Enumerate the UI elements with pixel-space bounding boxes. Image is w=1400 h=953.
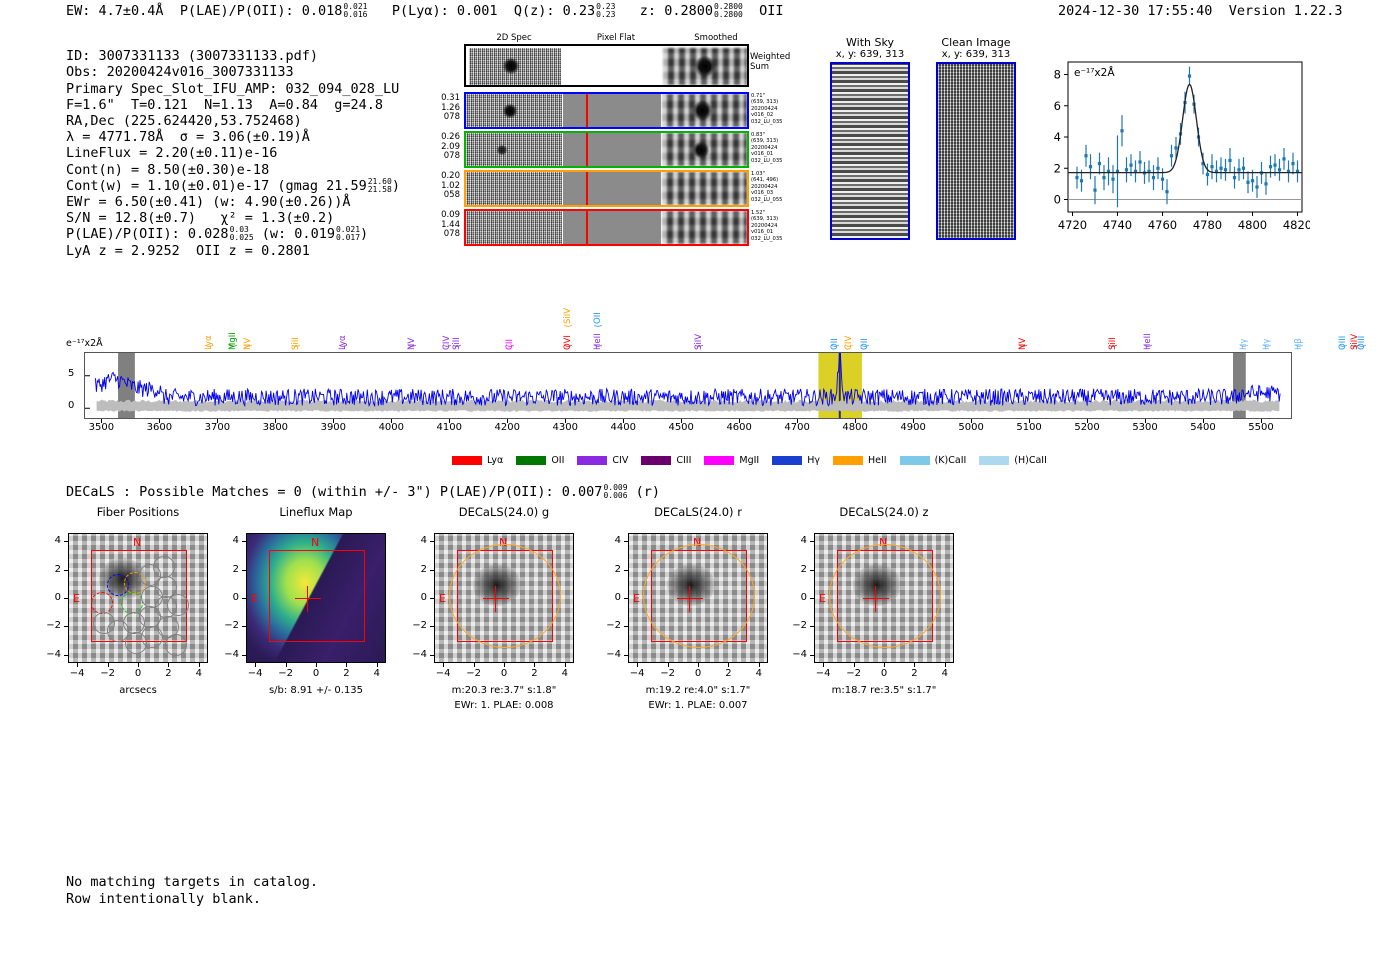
header-timestamp-version: 2024-12-30 17:55:40 Version 1.22.3 [1058, 3, 1343, 19]
legend-swatch [900, 456, 930, 465]
x-tickmark [101, 419, 102, 423]
decals-summary-text: DECaLS : Possible Matches = 0 (within +/… [66, 484, 602, 500]
y-tick-0: 0 [68, 400, 74, 411]
x-tickmark [913, 419, 914, 423]
header-summary-line: EW: 4.7±0.4Å P(LAE)/P(OII): 0.0180.0210.… [66, 3, 784, 19]
cutout-x-tickmark [138, 663, 139, 667]
emission-line-tick: ( [1339, 344, 1349, 348]
x-tick-5200: 5200 [1071, 422, 1103, 433]
svg-text:6: 6 [1054, 99, 1061, 113]
footer-note: No matching targets in catalog. Row inte… [66, 874, 318, 908]
cutout-x-tickmark [504, 663, 505, 667]
cutout-xlabel-1: s/b: 8.91 +/- 0.135 [216, 685, 416, 696]
legend-swatch [452, 456, 482, 465]
cutout-x-tickmark [474, 663, 475, 667]
cutout-image-3[interactable]: NE [628, 533, 768, 663]
fiber-2-flat-marker [586, 133, 588, 166]
cutout-x-ticklabel: 4 [933, 668, 957, 679]
cutout-x-ticklabel: 2 [716, 668, 740, 679]
emission-line-tick: ( [408, 344, 418, 348]
cutout-y-ticklabel: 0 [43, 592, 61, 603]
cutout-y-tickmark [624, 598, 628, 599]
legend-item-CIV: CIV [577, 455, 628, 466]
cutout-x-tickmark [945, 663, 946, 667]
emission-line-label-SiIV: SiIV [563, 284, 573, 324]
legend-item-CIII: CIII [641, 455, 691, 466]
cutout-y-tickmark [624, 626, 628, 627]
compass-east-label: E [439, 592, 446, 605]
cutout-y-tickmark [64, 626, 68, 627]
legend-swatch [641, 456, 671, 465]
emission-line-tick: ( [594, 324, 604, 328]
legend-label: CIII [676, 455, 691, 466]
cutout-y-tickmark [430, 570, 434, 571]
cutout-x-tickmark [914, 663, 915, 667]
cutout-caption1-2: m:20.3 re:3.7" s:1.8" [404, 685, 604, 696]
x-tickmark [797, 419, 798, 423]
cutout-y-ticklabel: −4 [43, 649, 61, 660]
info-line-2: Primary Spec_Slot_IFU_AMP: 032_094_028_L… [66, 81, 399, 97]
cutout-y-tickmark [624, 541, 628, 542]
cutout-x-tickmark [565, 663, 566, 667]
cutout-caption1-4: m:18.7 re:3.5" s:1.7" [784, 685, 984, 696]
emission-line-tick: ( [1144, 344, 1154, 348]
emission-line-tick: ( [564, 344, 574, 348]
emission-line-tick: ( [845, 344, 855, 348]
header-plya-value: 0.001 [457, 3, 498, 19]
legend-label: MgII [739, 455, 759, 466]
cutout-y-tickmark [810, 541, 814, 542]
x-tickmark [507, 419, 508, 423]
x-tick-3800: 3800 [259, 422, 291, 433]
svg-text:4780: 4780 [1193, 218, 1222, 232]
emission-line-tick: ( [229, 344, 239, 348]
info-line-4: RA,Dec (225.624420,53.752468) [66, 113, 302, 129]
cutout-y-tickmark [430, 655, 434, 656]
cutout-x-tickmark [108, 663, 109, 667]
cutout-y-tickmark [242, 655, 246, 656]
legend-swatch [979, 456, 1009, 465]
header-plya-label: P(Lyα): [392, 3, 449, 19]
cutout-x-ticklabel: 4 [365, 668, 389, 679]
x-tickmark [681, 419, 682, 423]
legend-item-Ly: Lyα [452, 455, 503, 466]
header-plae-value: 0.018 [302, 3, 343, 19]
cutout-y-tickmark [810, 655, 814, 656]
fiber-row-3 [464, 170, 749, 207]
fiber-circle-15 [167, 594, 189, 616]
spec2d-col-title-smoothed: Smoothed [668, 33, 764, 43]
cutout-title-2: DECaLS(24.0) g [412, 505, 596, 519]
x-tick-3700: 3700 [201, 422, 233, 433]
emission-line-tick: ( [292, 344, 302, 348]
svg-text:4760: 4760 [1148, 218, 1177, 232]
line-fit-svg: 47204740476047804800482002468 e⁻¹⁷x2Å [1030, 56, 1310, 246]
x-tickmark [333, 419, 334, 423]
fiber-circle-16 [165, 634, 187, 656]
info-line-0: ID: 3007331133 (3007331133.pdf) [66, 48, 318, 64]
x-tickmark [217, 419, 218, 423]
fiber-4-flat-marker [586, 211, 588, 244]
cutout-y-ticklabel: −4 [603, 649, 621, 660]
x-tick-4200: 4200 [491, 422, 523, 433]
cutout-y-ticklabel: −2 [789, 620, 807, 631]
cutout-y-ticklabel: 2 [43, 564, 61, 575]
fiber-1-info: 0.71"(639, 313)20200424v016_02032_LU_035 [751, 93, 782, 125]
clean-image-title: Clean Image [928, 36, 1024, 49]
cutout-x-ticklabel: 4 [187, 668, 211, 679]
weighted-sum-source-blob [502, 58, 520, 74]
x-tickmark [391, 419, 392, 423]
info-line-1: Obs: 20200424v016_3007331133 [66, 64, 294, 80]
timestamp: 2024-12-30 17:55:40 [1058, 3, 1212, 19]
x-tick-5500: 5500 [1245, 422, 1277, 433]
legend-label: (H)CaII [1014, 455, 1047, 466]
cutout-x-tickmark [728, 663, 729, 667]
info-line-3: F=1.6" T=0.121 N=1.13 A=0.84 g=24.8 [66, 97, 383, 113]
x-tickmark [1145, 419, 1146, 423]
clean-image [936, 62, 1016, 240]
info-snr: S/N = 12.8(±0.7) χ² = 1.3(±0.2) [66, 210, 334, 226]
svg-text:4740: 4740 [1103, 218, 1132, 232]
fiber-row-1 [464, 92, 749, 129]
cutout-x-ticklabel: −4 [625, 668, 649, 679]
legend-label: Hγ [807, 455, 820, 466]
cutout-x-ticklabel: 0 [492, 668, 516, 679]
x-tick-3900: 3900 [317, 422, 349, 433]
fiber-1-smoothed-blob [692, 101, 713, 120]
x-tick-3600: 3600 [143, 422, 175, 433]
x-tick-4600: 4600 [723, 422, 755, 433]
cutout-y-ticklabel: −2 [409, 620, 427, 631]
legend-item-MgII: MgII [704, 455, 759, 466]
info-line-6: LineFlux = 2.20(±0.11)e-16 [66, 145, 277, 161]
cutout-caption1-3: m:19.2 re:4.0" s:1.7" [598, 685, 798, 696]
legend-swatch [516, 456, 546, 465]
cutout-y-ticklabel: −2 [221, 620, 239, 631]
cutout-title-1: Lineflux Map [224, 505, 408, 519]
legend-label: HeII [868, 455, 887, 466]
header-ew: EW: 4.7±0.4Å [66, 3, 164, 19]
x-tickmark [739, 419, 740, 423]
full-spectrum-svg [85, 353, 1291, 418]
cutout-y-tickmark [64, 541, 68, 542]
compass-east-label: E [251, 592, 258, 605]
x-tickmark [275, 419, 276, 423]
emission-line-tick: ( [453, 344, 463, 348]
emission-line-tick: ( [831, 344, 841, 348]
cutout-y-ticklabel: 4 [789, 535, 807, 546]
cutout-x-ticklabel: −4 [65, 668, 89, 679]
x-tick-4900: 4900 [897, 422, 929, 433]
fiber-4-smoothed-image [662, 211, 747, 244]
clean-image-coords: x, y: 639, 313 [928, 49, 1024, 60]
cutout-x-ticklabel: 2 [334, 668, 358, 679]
cutout-x-ticklabel: 0 [872, 668, 896, 679]
y-tick-5: 5 [68, 368, 74, 379]
cutout-y-ticklabel: −4 [789, 649, 807, 660]
svg-text:4800: 4800 [1238, 218, 1267, 232]
x-tick-5300: 5300 [1129, 422, 1161, 433]
fiber-4-numbers: 0.091.44078 [424, 211, 460, 240]
fiber-1-numbers: 0.311.26078 [424, 94, 460, 123]
cutout-y-ticklabel: 4 [43, 535, 61, 546]
cutout-x-tickmark [286, 663, 287, 667]
cutout-y-tickmark [64, 655, 68, 656]
emission-line-tick: ( [1240, 344, 1250, 348]
x-tick-5400: 5400 [1187, 422, 1219, 433]
x-tick-3500: 3500 [85, 422, 117, 433]
x-tick-4100: 4100 [433, 422, 465, 433]
cutout-y-ticklabel: 0 [603, 592, 621, 603]
fiber-3-info: 1.03"(641, 496)20200424v016_03032_LU_055 [751, 171, 782, 203]
x-tick-4400: 4400 [607, 422, 639, 433]
cutout-y-ticklabel: 0 [789, 592, 807, 603]
crosshair-vertical [307, 586, 308, 612]
x-tick-5000: 5000 [955, 422, 987, 433]
cutout-x-ticklabel: −2 [656, 668, 680, 679]
cutout-x-tickmark [534, 663, 535, 667]
info-redshifts: LyA z = 2.9252 OII z = 0.2801 [66, 243, 310, 259]
source-ellipse [829, 544, 941, 648]
cutout-title-3: DECaLS(24.0) r [606, 505, 790, 519]
decals-summary-band: (r) [636, 484, 660, 500]
x-tickmark [971, 419, 972, 423]
version: Version 1.22.3 [1229, 3, 1343, 19]
header-qz-value: 0.23 [563, 3, 596, 19]
cutout-x-ticklabel: −4 [431, 668, 455, 679]
compass-east-label: E [73, 592, 80, 605]
cutout-y-tickmark [810, 570, 814, 571]
fiber-4-pixelflat-image [563, 211, 661, 244]
source-ellipse [643, 544, 755, 648]
emission-line-tick: ( [244, 344, 254, 348]
cutout-x-ticklabel: 0 [126, 668, 150, 679]
legend-label: OII [551, 455, 564, 466]
cutout-x-ticklabel: 4 [747, 668, 771, 679]
cutout-caption2-2: EWr: 1. PLAE: 0.008 [404, 700, 604, 711]
cutout-image-0[interactable]: NE [68, 533, 208, 663]
cutout-y-tickmark [810, 598, 814, 599]
svg-text:4720: 4720 [1058, 218, 1087, 232]
cutout-y-tickmark [242, 541, 246, 542]
cutout-caption2-3: EWr: 1. PLAE: 0.007 [598, 700, 798, 711]
legend-label: Lyα [487, 455, 503, 466]
cutout-panel-row: Fiber PositionsNE−4−4−2−2002244arcsecsLi… [0, 505, 1400, 735]
cutout-xlabel-0: arcsecs [38, 685, 238, 696]
cutout-y-tickmark [64, 570, 68, 571]
cutout-x-tickmark [255, 663, 256, 667]
emission-line-tick: ( [1263, 344, 1273, 348]
emission-line-tick: ( [861, 344, 871, 348]
full-spectrum-plot [84, 352, 1292, 419]
source-ellipse [449, 544, 561, 648]
cutout-x-ticklabel: 0 [686, 668, 710, 679]
svg-text:4: 4 [1054, 130, 1061, 144]
cutout-y-tickmark [64, 598, 68, 599]
cutout-y-tickmark [624, 655, 628, 656]
cutout-y-ticklabel: 2 [603, 564, 621, 575]
legend-item-KCaII: (K)CaII [900, 455, 967, 466]
cutout-x-ticklabel: 2 [902, 668, 926, 679]
cutout-x-tickmark [637, 663, 638, 667]
cutout-x-tickmark [854, 663, 855, 667]
spec2d-col-title-pixelflat: Pixel Flat [568, 33, 664, 43]
cutout-x-ticklabel: −4 [243, 668, 267, 679]
cutout-y-ticklabel: 2 [221, 564, 239, 575]
cutout-x-tickmark [668, 663, 669, 667]
cutout-x-tickmark [823, 663, 824, 667]
x-tickmark [1087, 419, 1088, 423]
fiber-circle-1 [91, 592, 113, 614]
legend-swatch [577, 456, 607, 465]
weighted-sum-smoothed-blob [694, 56, 716, 77]
x-tick-4300: 4300 [549, 422, 581, 433]
x-tickmark [1203, 419, 1204, 423]
info-line-5: λ = 4771.78Å σ = 3.06(±0.19)Å [66, 129, 310, 145]
cutout-x-ticklabel: 2 [156, 668, 180, 679]
header-z-label: z: [640, 3, 656, 19]
crosshair-vertical [689, 586, 690, 612]
legend-item-H: Hγ [772, 455, 820, 466]
header-z-bounds: 0.28000.2800 [714, 3, 743, 19]
fiber-3-numbers: 0.201.02058 [424, 172, 460, 201]
cutout-x-ticklabel: −2 [842, 668, 866, 679]
cutout-x-tickmark [377, 663, 378, 667]
fiber-circle-17 [93, 612, 115, 634]
fiber-1-source-blob [502, 104, 518, 118]
cutout-image-4[interactable]: NE [814, 533, 954, 663]
info-line-7: Cont(n) = 8.50(±0.30)e-18 [66, 162, 269, 178]
cutout-x-ticklabel: −2 [96, 668, 120, 679]
compass-east-label: E [633, 592, 640, 605]
with-sky-image [830, 62, 910, 240]
fiber-2-info: 0.83"(639, 313)20200424v016_01032_LU_035 [751, 132, 782, 164]
emission-line-tick: ( [695, 344, 705, 348]
full-spectrum-units: e⁻¹⁷x2Å [66, 338, 103, 349]
compass-north-label: N [311, 536, 319, 549]
info-cont-w: Cont(w) = 1.10(±0.01)e-17 (gmag 21.5921.… [66, 178, 400, 194]
compass-north-label: N [133, 536, 141, 549]
cutout-image-2[interactable]: NE [434, 533, 574, 663]
spectrum-legend: LyαOIICIVCIIIMgIIHγHeII(K)CaII(H)CaII [452, 448, 972, 467]
header-qz-label: Q(z): [514, 3, 555, 19]
fiber-3-pixelflat-image [563, 172, 661, 205]
cutout-y-ticklabel: 4 [221, 535, 239, 546]
cutout-x-tickmark [316, 663, 317, 667]
fiber-2-pixelflat-image [563, 133, 661, 166]
cutout-y-tickmark [430, 598, 434, 599]
svg-text:2: 2 [1054, 161, 1061, 175]
cutout-x-ticklabel: 0 [304, 668, 328, 679]
fiber-row-2 [464, 131, 749, 168]
cutout-x-tickmark [759, 663, 760, 667]
cutout-x-tickmark [346, 663, 347, 667]
cutout-y-ticklabel: −4 [409, 649, 427, 660]
source-info-block: ID: 3007331133 (3007331133.pdf) Obs: 202… [66, 32, 400, 259]
emission-line-tick: ( [564, 324, 574, 328]
fiber-2-numbers: 0.262.09078 [424, 133, 460, 162]
cutout-x-tickmark [168, 663, 169, 667]
fiber-1-flat-marker [586, 94, 588, 127]
weighted-sum-pixelflat-image [562, 48, 662, 85]
cutout-y-ticklabel: 4 [603, 535, 621, 546]
cutout-y-tickmark [430, 626, 434, 627]
crosshair-vertical [875, 586, 876, 612]
header-plae-bounds: 0.0210.016 [343, 3, 367, 19]
legend-swatch [772, 456, 802, 465]
with-sky-title: With Sky [828, 36, 912, 49]
cutout-x-tickmark [77, 663, 78, 667]
cutout-y-ticklabel: 0 [409, 592, 427, 603]
emission-line-tick: ( [594, 344, 604, 348]
header-z-value: 0.2800 [664, 3, 713, 19]
fiber-1-pixelflat-image [563, 94, 661, 127]
cutout-x-tickmark [698, 663, 699, 667]
x-tickmark [623, 419, 624, 423]
spec2d-col-title-2dspec: 2D Spec [466, 33, 562, 43]
cutout-image-1[interactable]: NE [246, 533, 386, 663]
cutout-x-ticklabel: −2 [462, 668, 486, 679]
crosshair-vertical [495, 586, 496, 612]
cutout-y-ticklabel: 2 [409, 564, 427, 575]
cutout-y-ticklabel: 0 [221, 592, 239, 603]
emission-line-tick: ( [1358, 344, 1368, 348]
cutout-x-ticklabel: −2 [274, 668, 298, 679]
fiber-circle-5 [153, 556, 175, 578]
legend-label: (K)CaII [935, 455, 967, 466]
line-fit-units: e⁻¹⁷x2Å [1074, 66, 1115, 79]
with-sky-coords: x, y: 639, 313 [828, 49, 912, 60]
fiber-3-2dspec-image [466, 172, 562, 205]
cutout-y-ticklabel: −2 [43, 620, 61, 631]
svg-text:0: 0 [1054, 193, 1061, 207]
x-tickmark [449, 419, 450, 423]
cutout-title-4: DECaLS(24.0) z [792, 505, 976, 519]
x-tick-4000: 4000 [375, 422, 407, 433]
cutout-x-tickmark [443, 663, 444, 667]
cutout-x-tickmark [199, 663, 200, 667]
emission-line-tick: ( [1019, 344, 1029, 348]
cutout-x-ticklabel: 4 [553, 668, 577, 679]
fiber-3-flat-marker [586, 172, 588, 205]
header-qz-bounds: 0.230.23 [596, 3, 615, 19]
spectrum-line-labels: Lyα(MgII(NV(SiII(Lyα(NV(CIV(SiII(CII(OVI… [84, 282, 1294, 354]
weighted-sum-row [464, 44, 749, 87]
legend-swatch [833, 456, 863, 465]
x-tickmark [565, 419, 566, 423]
svg-text:8: 8 [1054, 68, 1061, 82]
weighted-sum-label: Weighted Sum [750, 52, 790, 72]
legend-label: CIV [612, 455, 628, 466]
x-tick-5100: 5100 [1013, 422, 1045, 433]
fiber-2-smoothed-blob [692, 142, 710, 158]
x-tickmark [1029, 419, 1030, 423]
cutout-y-ticklabel: −4 [221, 649, 239, 660]
emission-line-tick: ( [339, 344, 349, 348]
cutout-y-tickmark [242, 570, 246, 571]
cutout-region-box [269, 550, 365, 642]
x-tickmark [1261, 419, 1262, 423]
cutout-x-ticklabel: 2 [522, 668, 546, 679]
legend-swatch [704, 456, 734, 465]
fiber-4-2dspec-image [466, 211, 562, 244]
legend-item-HeII: HeII [833, 455, 887, 466]
fiber-4-info: 1.52"(639, 313)20200424v016_01032_LU_035 [751, 210, 782, 242]
svg-text:4820: 4820 [1283, 218, 1310, 232]
cutout-x-tickmark [884, 663, 885, 667]
cutout-y-tickmark [810, 626, 814, 627]
